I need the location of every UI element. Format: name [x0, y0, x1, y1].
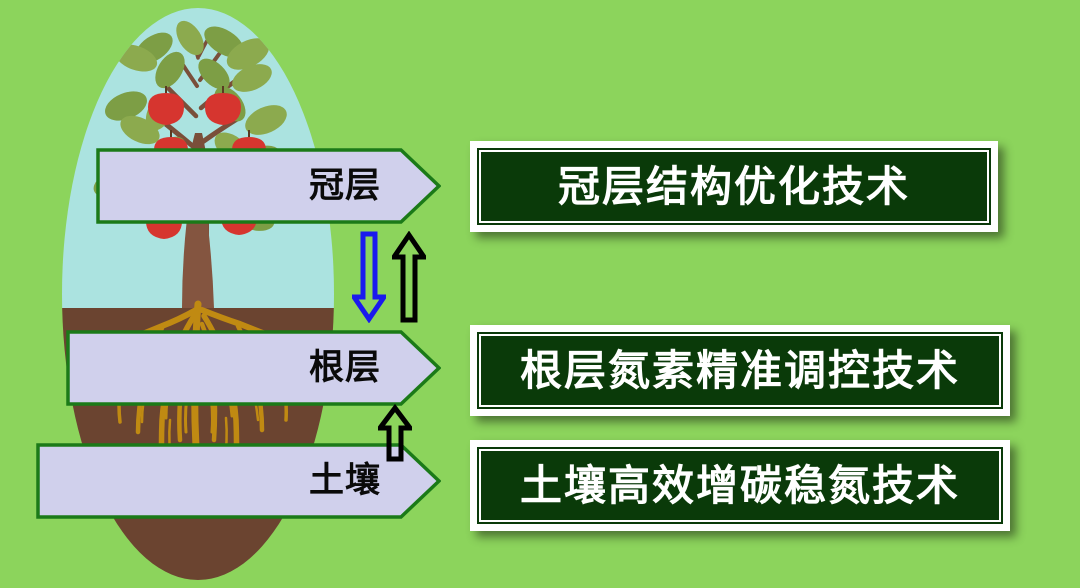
layer-label-soil: 土壤	[309, 464, 381, 499]
layer-label-root: 根层	[309, 351, 381, 386]
up-arrow-glyph	[378, 404, 412, 462]
diagram-canvas: 冠层 根层 土壤 冠层结构优化技术 根层氮素精准调控技术 土壤高效增碳稳氮技术	[0, 0, 1080, 588]
flow-arrow-root-to-canopy-icon	[392, 231, 426, 323]
technology-label-root: 根层氮素精准调控技术	[520, 350, 960, 392]
technology-box-inner: 土壤高效增碳稳氮技术	[477, 447, 1003, 524]
flow-arrow-soil-to-root-icon	[378, 404, 412, 462]
layer-chevron-canopy[interactable]: 冠层	[96, 148, 441, 224]
technology-label-soil: 土壤高效增碳稳氮技术	[520, 465, 960, 507]
chevron-shape	[96, 148, 441, 224]
technology-box-canopy[interactable]: 冠层结构优化技术	[470, 141, 998, 232]
layer-label-canopy: 冠层	[309, 169, 381, 204]
chevron-shape	[66, 330, 441, 406]
layer-chevron-root[interactable]: 根层	[66, 330, 441, 406]
technology-label-canopy: 冠层结构优化技术	[558, 166, 910, 208]
down-arrow-glyph	[352, 231, 386, 323]
up-arrow-glyph	[392, 231, 426, 323]
technology-box-soil[interactable]: 土壤高效增碳稳氮技术	[470, 440, 1010, 531]
technology-box-inner: 根层氮素精准调控技术	[477, 332, 1003, 409]
technology-box-inner: 冠层结构优化技术	[477, 148, 991, 225]
flow-arrow-canopy-to-root-icon	[352, 231, 386, 323]
technology-box-root[interactable]: 根层氮素精准调控技术	[470, 325, 1010, 416]
